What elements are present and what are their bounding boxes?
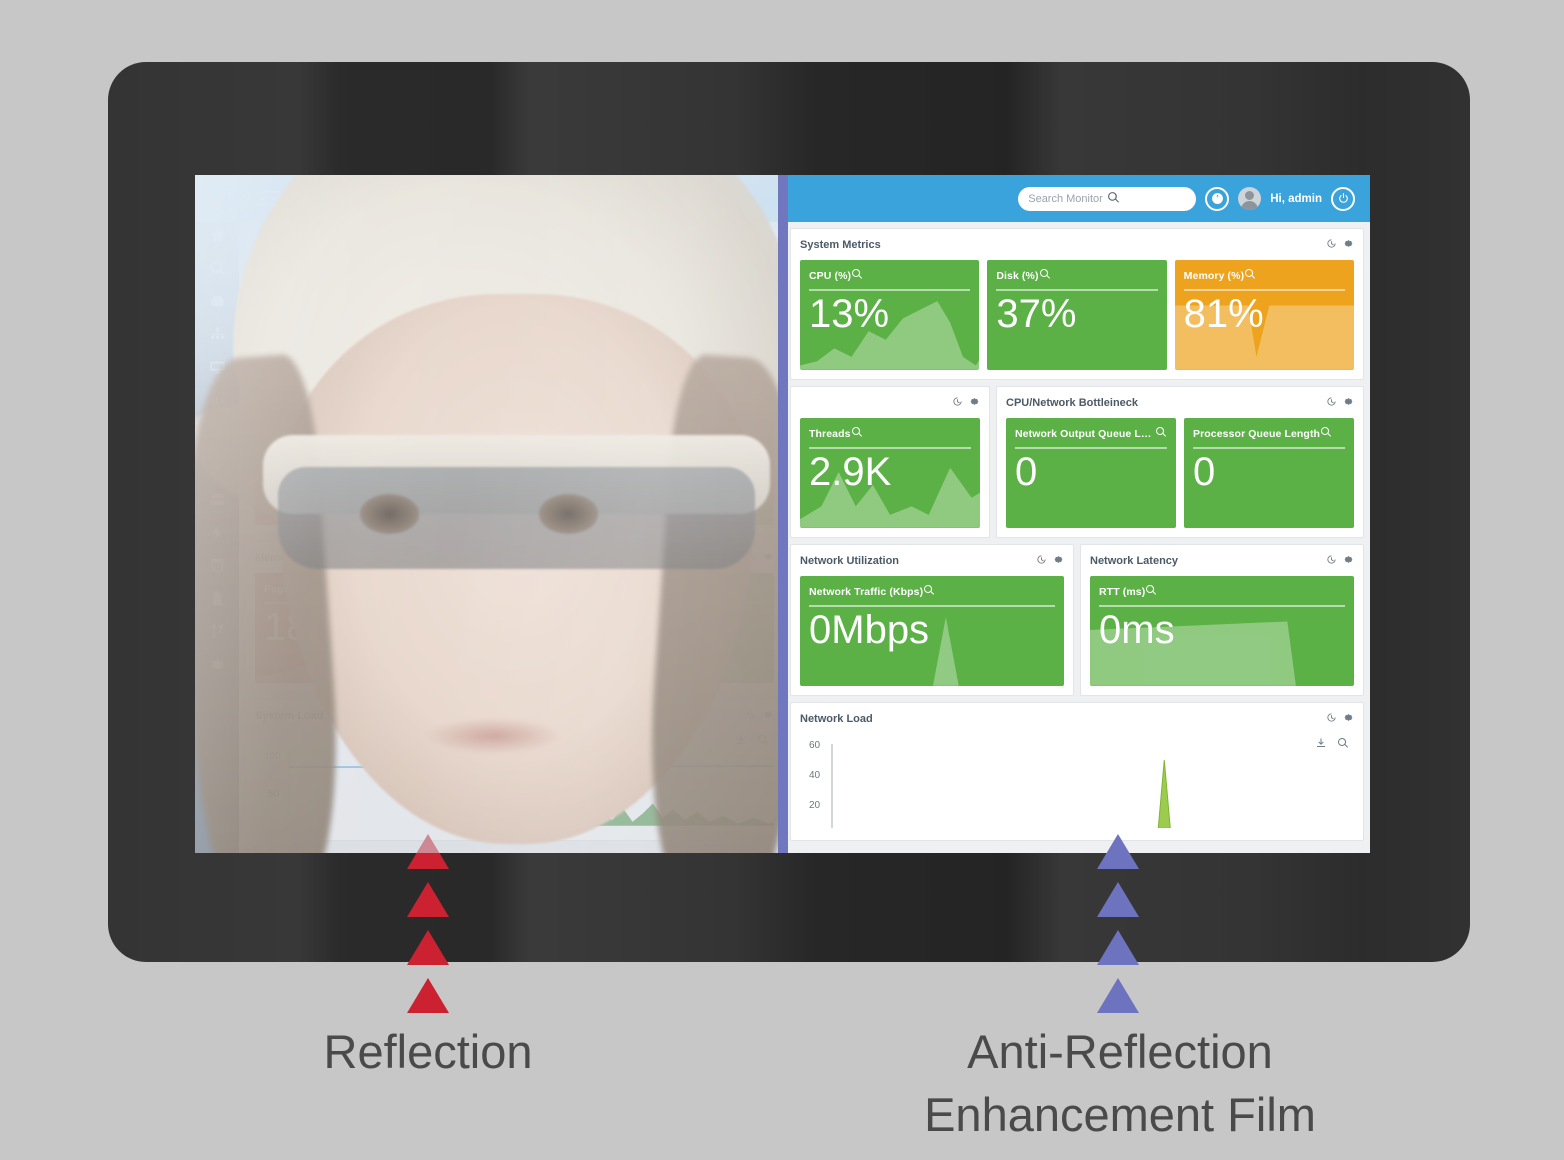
search-icon[interactable] — [1107, 191, 1186, 207]
panel-cpu-network-bottleneck: CPU/Network Bottleineck Network Output Q… — [996, 386, 1364, 538]
sidebar-item-network[interactable] — [195, 321, 239, 354]
panel-network-load: Network Load 60 40 — [790, 702, 1364, 841]
panel-title: System Load — [255, 710, 323, 722]
tile-label: Disk (%) — [996, 270, 1038, 282]
tile-rule — [1099, 605, 1345, 607]
tile-rule — [264, 602, 493, 604]
user-avatar-icon[interactable] — [1238, 187, 1261, 210]
network-load-series — [833, 744, 1355, 828]
gear-icon[interactable] — [490, 236, 501, 254]
sidebar-item-settings[interactable] — [195, 651, 239, 684]
legend-value: 100 — [751, 311, 769, 323]
gear-icon[interactable] — [763, 549, 774, 567]
panel-title: Availability — [527, 239, 585, 251]
history-icon[interactable] — [1326, 710, 1337, 728]
row-label: Monitor — [246, 258, 357, 283]
hamburger-menu-icon[interactable] — [259, 187, 281, 211]
gear-icon[interactable] — [763, 236, 774, 254]
tile-label: Pages/sec — [537, 583, 589, 595]
bell-icon — [209, 425, 226, 447]
metric-tile-running-processes[interactable]: Running Processes 344 — [606, 415, 774, 525]
sidebar-item-inventory[interactable] — [195, 486, 239, 519]
tile-rule — [440, 444, 590, 446]
megaphone-icon — [209, 392, 226, 414]
split-divider — [778, 175, 788, 853]
topbar: Search Monitor Hi, admin — [239, 175, 1370, 222]
sidebar-item-dashboard[interactable] — [195, 288, 239, 321]
brand-logo[interactable] — [195, 175, 239, 222]
gear-icon[interactable] — [1053, 552, 1064, 570]
panel-title: CPU/Network Bottleineck — [1006, 397, 1138, 409]
tile-rule — [809, 289, 970, 291]
sidebar-item-reports[interactable] — [195, 585, 239, 618]
reflection-marker-3 — [407, 930, 449, 965]
tile-label: Threads — [809, 428, 851, 440]
tiles-row: CPU (%) 13% Disk (%) — [791, 258, 1363, 379]
search-icon[interactable] — [851, 267, 863, 285]
tile-value: 0ms — [1099, 609, 1345, 651]
search-icon[interactable] — [1244, 267, 1256, 285]
antireflection-marker-4 — [1097, 978, 1139, 1013]
tile-value: 51K — [264, 448, 414, 490]
download-icon[interactable] — [735, 262, 747, 280]
table-row: Monitor 192.168.1.10 — [246, 258, 510, 283]
gear-icon — [209, 656, 226, 678]
history-icon[interactable] — [746, 549, 757, 567]
history-icon[interactable] — [473, 236, 484, 254]
sidebar-item-integrations[interactable] — [195, 453, 239, 486]
panel-availability: Availability — [517, 228, 784, 383]
system-details-table: Monitor 192.168.1.10 Type Windows — [246, 258, 510, 374]
tile-value: 41K — [440, 448, 590, 490]
tile-value: 0 — [537, 606, 766, 648]
panel-system-load: System Load 100 50 — [245, 699, 784, 841]
sidebar — [195, 175, 239, 853]
tile-value: 37% — [996, 293, 1157, 335]
tiles-row: Pages/sec 0 — [519, 571, 784, 692]
panel-system-metrics: System Metrics CPU (%) — [790, 228, 1364, 380]
caption-antireflection: Anti-Reflection Enhancement Film — [860, 1020, 1380, 1147]
network-load-chart: 60 40 20 — [791, 732, 1363, 828]
history-icon[interactable] — [1326, 236, 1337, 254]
history-icon[interactable] — [746, 707, 757, 725]
server-icon — [209, 491, 226, 513]
tile-label: CPU (%) — [809, 270, 851, 282]
tile-rule — [264, 444, 414, 446]
panel-title: CPU Load Metrics — [255, 397, 349, 409]
power-icon[interactable] — [1331, 187, 1355, 211]
plug-icon — [209, 458, 226, 480]
tiles-row: Network Output Queue Len... 0 Processor … — [997, 416, 1363, 537]
tile-label: RTT (ms) — [1099, 586, 1145, 598]
tile-value: 81% — [1184, 293, 1345, 335]
tile-label: Network Output Queue Len... — [1015, 428, 1155, 440]
right-column: System Metrics CPU (%) — [790, 228, 1364, 847]
panel-cpu-load-metrics: CPU Load Metrics Context Switches/sec — [245, 389, 784, 535]
sitemap-icon — [209, 326, 226, 348]
tile-rule — [1184, 289, 1345, 291]
panel-title: Network Utilization — [800, 555, 899, 567]
panel-title: System Details — [255, 239, 333, 251]
globe-icon[interactable] — [1205, 187, 1229, 211]
legend-label: Up (%) — [666, 311, 699, 323]
tile-label: Network Traffic (Kbps) — [809, 586, 923, 598]
availability-donut-chart — [540, 280, 618, 358]
table-row: System Name WIN-R2MMNT2NAK1 — [246, 309, 510, 334]
panel-title: System Metrics — [800, 239, 881, 251]
tile-value: 344 — [615, 448, 765, 490]
sidebar-item-notifications[interactable] — [195, 420, 239, 453]
download-icon[interactable] — [735, 733, 747, 751]
monitor-icon — [209, 359, 226, 381]
row-value: Windows — [383, 290, 426, 302]
left-column: System Details Monitor 192.168.1.10 — [245, 228, 784, 847]
tile-value: 2.9K — [809, 451, 971, 493]
history-icon[interactable] — [474, 549, 485, 567]
y-axis-tick: 60 — [809, 740, 820, 751]
metric-tile-memory[interactable]: Memory (%) 81% — [1175, 260, 1354, 370]
tiles-row: Network Traffic (Kbps) 0Mbps — [791, 574, 1073, 695]
search-icon[interactable] — [1039, 267, 1051, 285]
branch-icon — [209, 623, 226, 645]
gear-icon[interactable] — [1343, 710, 1354, 728]
metric-tile-processor-queue-length[interactable]: Processor Queue Length 0 — [1184, 418, 1354, 528]
tile-rule — [809, 447, 971, 449]
tile-rule — [996, 289, 1157, 291]
tile-rule — [1015, 447, 1167, 449]
row-value: WIN-R2MMNT2NAK1 — [357, 309, 510, 334]
panel-network-utilization: Network Utilization Net — [790, 544, 1074, 696]
uptime-badge: 30 days 6 hours 55 minutes — [366, 340, 501, 368]
tile-value: 13% — [809, 293, 970, 335]
search-placeholder: Search Monitor — [1028, 193, 1107, 205]
panel-memory-leak: Memory Leak Pages/sec — [518, 541, 785, 693]
gear-icon[interactable] — [1343, 394, 1354, 412]
dashboard-screen: Search Monitor Hi, admin — [195, 175, 1370, 853]
tile-rule — [809, 605, 1055, 607]
metric-tile-network-output-queue[interactable]: Network Output Queue Len... 0 — [1006, 418, 1176, 528]
metric-tile-threads[interactable]: Threads 2.9K — [800, 418, 980, 528]
gear-icon[interactable] — [491, 549, 502, 567]
home-icon — [209, 227, 226, 249]
table-row: Type Windows — [246, 283, 510, 309]
history-icon[interactable] — [952, 394, 963, 412]
y-axis-tick: 20 — [809, 800, 820, 811]
row-label: System Name — [246, 309, 357, 334]
tile-value: 18K — [264, 606, 493, 648]
panel-title: Network Load — [800, 713, 873, 725]
search-icon[interactable] — [715, 422, 727, 440]
zoom-icon[interactable] — [757, 262, 769, 280]
tiles-row: Threads 2.9K — [791, 416, 989, 537]
chart-tools — [735, 262, 769, 280]
tile-value: 0 — [1015, 451, 1167, 493]
search-icon[interactable] — [1320, 425, 1332, 443]
search-icon[interactable] — [374, 422, 386, 440]
tile-label: Running Processes — [615, 425, 715, 437]
gear-icon[interactable] — [763, 707, 774, 725]
metric-tile-network-traffic[interactable]: Network Traffic (Kbps) 0Mbps — [800, 576, 1064, 686]
panel-threads: Threads 2.9K — [790, 386, 990, 538]
search-icon[interactable] — [851, 425, 863, 443]
page-root: Search Monitor Hi, admin — [0, 0, 1564, 1160]
sidebar-item-workflow[interactable] — [195, 618, 239, 651]
panel-system-details: System Details Monitor 192.168.1.10 — [245, 228, 511, 383]
search-icon[interactable] — [923, 583, 935, 601]
search-icon[interactable] — [589, 580, 601, 598]
sidebar-item-schedule[interactable] — [195, 552, 239, 585]
dashboard-content: System Details Monitor 192.168.1.10 — [239, 222, 1370, 853]
caption-reflection: Reflection — [200, 1020, 656, 1083]
sidebar-item-home[interactable] — [195, 222, 239, 255]
metric-tile-interrupts[interactable]: Interrupts/sec 41K — [431, 415, 599, 525]
history-icon[interactable] — [1326, 552, 1337, 570]
bolt-icon — [209, 524, 226, 546]
panel-memory-pressure: Memory Pressure Page Fa — [245, 541, 512, 693]
sidebar-item-automation[interactable] — [195, 519, 239, 552]
sidebar-item-alerts-broadcast[interactable] — [195, 387, 239, 420]
table-row: Uptime 30 days 6 hours 55 minutes — [246, 334, 510, 375]
antireflection-marker-1 — [1097, 834, 1139, 869]
search-icon — [209, 260, 226, 282]
document-icon — [209, 590, 226, 612]
metric-tile-cpu[interactable]: CPU (%) 13% — [800, 260, 979, 370]
tiles-row: Context Switches/sec 51K Interrupts/sec — [246, 413, 783, 534]
panel-network-latency: Network Latency RTT (ms — [1080, 544, 1364, 696]
gear-icon[interactable] — [1343, 236, 1354, 254]
search-icon[interactable] — [345, 580, 357, 598]
tile-label: Page Faults/sec — [264, 583, 345, 595]
panel-title: Network Latency — [1090, 555, 1178, 567]
caption-line-2: Enhancement Film — [860, 1083, 1380, 1146]
search-icon[interactable] — [1155, 425, 1167, 443]
caption-line-1: Anti-Reflection — [860, 1020, 1380, 1083]
history-icon[interactable] — [1326, 394, 1337, 412]
tiles-row: Page Faults/sec 18K — [246, 571, 511, 692]
metric-tile-page-faults[interactable]: Page Faults/sec 18K — [255, 573, 502, 683]
tile-label: Context Switches/sec — [264, 425, 374, 437]
calendar-icon — [209, 557, 226, 579]
sidebar-item-search[interactable] — [195, 255, 239, 288]
windows-icon — [366, 289, 378, 301]
antireflection-marker-3 — [1097, 930, 1139, 965]
tile-rule — [615, 444, 765, 446]
reflection-marker-4 — [407, 978, 449, 1013]
y-axis-tick: 100 — [264, 751, 281, 762]
search-input[interactable]: Search Monitor — [1018, 187, 1196, 211]
search-icon[interactable] — [511, 422, 523, 440]
reflection-marker-1 — [407, 834, 449, 869]
tile-label: Processor Queue Length — [1193, 428, 1320, 440]
reflection-marker-2 — [407, 882, 449, 917]
system-load-series — [289, 753, 774, 826]
chart-tools — [735, 733, 769, 751]
tile-label: Interrupts/sec — [440, 425, 511, 437]
zoom-icon[interactable] — [757, 733, 769, 751]
tile-value: 0Mbps — [809, 609, 1055, 651]
row-value[interactable]: 192.168.1.10 — [357, 258, 510, 283]
panel-title: Memory Leak — [528, 552, 598, 564]
metric-tile-disk[interactable]: Disk (%) 37% — [987, 260, 1166, 370]
metric-tile-pages-per-sec[interactable]: Pages/sec 0 — [528, 573, 775, 683]
panel-title: Memory Pressure — [255, 552, 347, 564]
y-axis-tick: 40 — [809, 770, 820, 781]
availability-legend: Up (%) — [651, 311, 699, 323]
system-load-chart: 100 50 — [246, 729, 783, 825]
history-icon[interactable] — [1036, 552, 1047, 570]
sidebar-item-servers[interactable] — [195, 354, 239, 387]
search-icon[interactable] — [1145, 583, 1157, 601]
monitor-logo-icon — [205, 187, 229, 211]
legend-swatch — [651, 313, 660, 322]
gear-icon[interactable] — [1343, 552, 1354, 570]
availability-chart: Up (%) 100 — [518, 258, 783, 382]
row-label: Type — [246, 283, 357, 309]
antireflection-marker-2 — [1097, 882, 1139, 917]
tile-rule — [537, 602, 766, 604]
gear-icon[interactable] — [969, 394, 980, 412]
metric-tile-context-switches[interactable]: Context Switches/sec 51K — [255, 415, 423, 525]
greeting-label: Hi, admin — [1270, 193, 1322, 205]
tile-rule — [1193, 447, 1345, 449]
row-label: Uptime — [246, 334, 357, 375]
topbar-actions: Search Monitor Hi, admin — [1018, 187, 1370, 211]
gauge-icon — [209, 293, 226, 315]
tiles-row: RTT (ms) 0ms — [1081, 574, 1363, 695]
metric-tile-rtt[interactable]: RTT (ms) 0ms — [1090, 576, 1354, 686]
tile-label: Memory (%) — [1184, 270, 1245, 282]
tile-value: 0 — [1193, 451, 1345, 493]
history-icon[interactable] — [746, 236, 757, 254]
y-axis-tick: 50 — [268, 789, 279, 800]
